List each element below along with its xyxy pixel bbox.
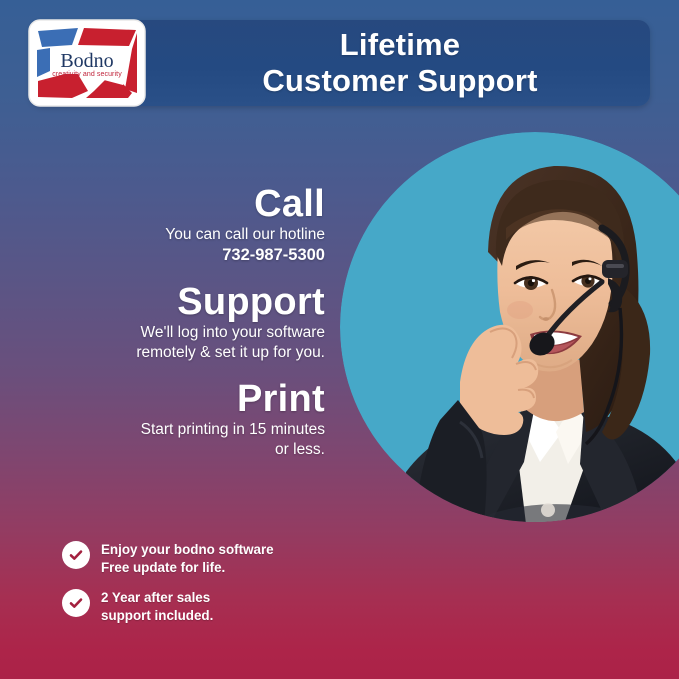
list-item: Enjoy your bodno software Free update fo… [62, 540, 327, 576]
section-print-line-2: or less. [85, 440, 325, 460]
section-print: Print Start printing in 15 minutes or le… [85, 380, 325, 460]
benefits-checklist: Enjoy your bodno software Free update fo… [0, 540, 679, 650]
section-support-line-2: remotely & set it up for you. [55, 343, 325, 363]
list-item-line1: Enjoy your bodno software [101, 541, 274, 559]
support-poster: Lifetime Customer Support Bodno creativi… [0, 0, 679, 679]
section-call: Call You can call our hotline 732-987-53… [95, 185, 325, 266]
page-title-line1: Lifetime [340, 27, 460, 63]
bodno-logo: Bodno creativity and security [28, 19, 146, 107]
page-title: Lifetime Customer Support [150, 20, 650, 106]
page-title-line2: Customer Support [262, 63, 537, 99]
section-support: Support We'll log into your software rem… [55, 283, 325, 363]
section-call-heading: Call [95, 185, 325, 225]
bodno-logo-icon: Bodno creativity and security [28, 19, 146, 107]
section-support-heading: Support [55, 283, 325, 323]
list-item-line2: Free update for life. [101, 559, 274, 577]
section-call-phone: 732-987-5300 [95, 245, 325, 266]
section-support-line-1: We'll log into your software [55, 323, 325, 343]
logo-brand-text: Bodno [60, 50, 113, 72]
agent-photo [340, 132, 679, 522]
check-circle-icon [62, 541, 90, 569]
section-print-line-1: Start printing in 15 minutes [85, 420, 325, 440]
check-mark-icon [68, 595, 84, 611]
checklist-column-left: Enjoy your bodno software Free update fo… [0, 540, 327, 650]
list-item-line1: 2 Year after sales [101, 589, 213, 607]
agent-photo-illustration [340, 132, 679, 522]
checklist-column-right: 9:00AM - 6:00PM EST Monday to Friday. En… [327, 540, 679, 650]
list-item: 2 Year after sales support included. [62, 588, 327, 624]
list-item-text: 2 Year after sales support included. [101, 588, 213, 624]
check-circle-icon [62, 589, 90, 617]
section-print-heading: Print [85, 380, 325, 420]
section-call-line-1: You can call our hotline [95, 225, 325, 245]
check-mark-icon [68, 547, 84, 563]
list-item-line2: support included. [101, 607, 213, 625]
logo-tagline-text: creativity and security [52, 71, 122, 78]
list-item-text: Enjoy your bodno software Free update fo… [101, 540, 274, 576]
